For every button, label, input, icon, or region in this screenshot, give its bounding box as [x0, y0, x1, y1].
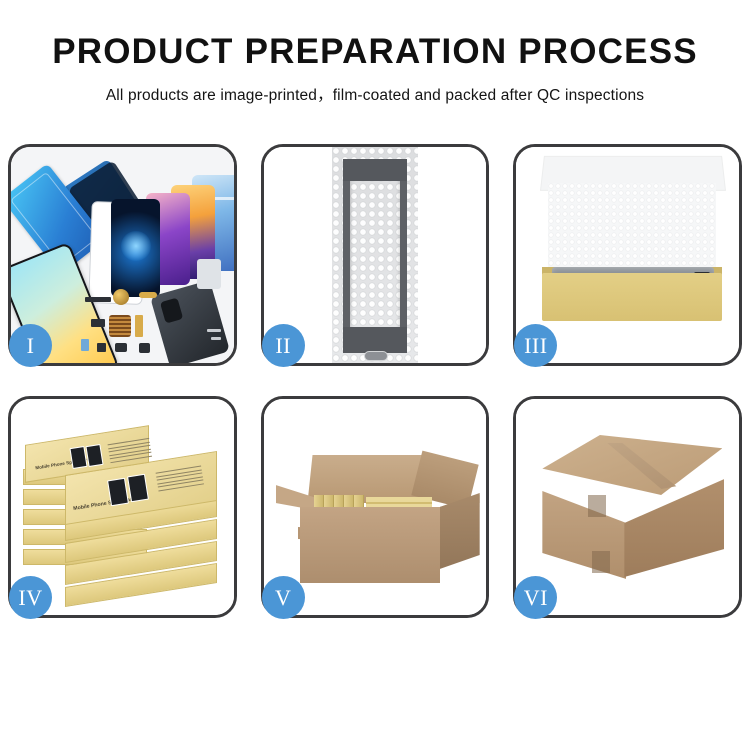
carton-top-face [542, 435, 722, 495]
carton-tab-top [588, 495, 606, 517]
flex-cable-part [135, 315, 143, 337]
screw-part-2 [211, 337, 221, 340]
small-part-1 [85, 297, 111, 302]
page-header: PRODUCT PREPARATION PROCESS All products… [0, 0, 750, 105]
box-phone-image-1 [69, 446, 87, 469]
tool-part [197, 259, 221, 289]
yellow-box-base [542, 273, 722, 321]
step-panel-4[interactable]: Mobile Phone Spare Parts Mobile Phone Sp… [8, 396, 237, 618]
small-part-6 [81, 339, 89, 351]
box-phone-image-4 [127, 474, 149, 502]
home-button [364, 351, 388, 361]
step-panel-6[interactable]: VI [513, 396, 742, 618]
step-badge-1: I [9, 324, 52, 367]
screen-frame [343, 159, 407, 353]
step-panel-5[interactable]: V [261, 396, 490, 618]
foam-padding [548, 183, 716, 275]
small-part-7 [139, 343, 150, 353]
step-panel-2[interactable]: II [261, 144, 490, 366]
page-title: PRODUCT PREPARATION PROCESS [0, 34, 750, 71]
small-part-5 [97, 343, 106, 352]
carton-tab-bottom [592, 551, 610, 573]
small-part-3 [91, 319, 105, 327]
process-row-2: Mobile Phone Spare Parts Mobile Phone Sp… [8, 396, 742, 618]
small-part-2 [139, 292, 157, 298]
box-phone-image-2 [85, 444, 103, 467]
step-badge-4: IV [9, 576, 52, 619]
step-panel-3[interactable]: III [513, 144, 742, 366]
screw-part-1 [207, 329, 221, 332]
chip-part-icon [109, 315, 131, 337]
speaker-part-icon [113, 289, 129, 305]
step-badge-5: V [262, 576, 305, 619]
carton-right-face [624, 477, 724, 581]
bubble-wrapped-screen [332, 147, 418, 363]
box-phone-image-3 [107, 478, 129, 506]
box-stack: Mobile Phone Spare Parts Mobile Phone Sp… [23, 417, 229, 605]
carton-front-panel [300, 507, 440, 583]
step-badge-2: II [262, 324, 305, 367]
small-part-4 [115, 343, 127, 352]
carton-side-panel [440, 493, 480, 569]
process-row-1: I II [8, 144, 742, 366]
step-panel-1[interactable]: I [8, 144, 237, 366]
process-grid: I II [8, 144, 742, 618]
carton-left-face [542, 479, 626, 579]
phone-back-cover [150, 280, 230, 363]
page-subtitle: All products are image-printed，film-coat… [0, 83, 750, 105]
phone-screen-blue-glow [111, 199, 160, 297]
